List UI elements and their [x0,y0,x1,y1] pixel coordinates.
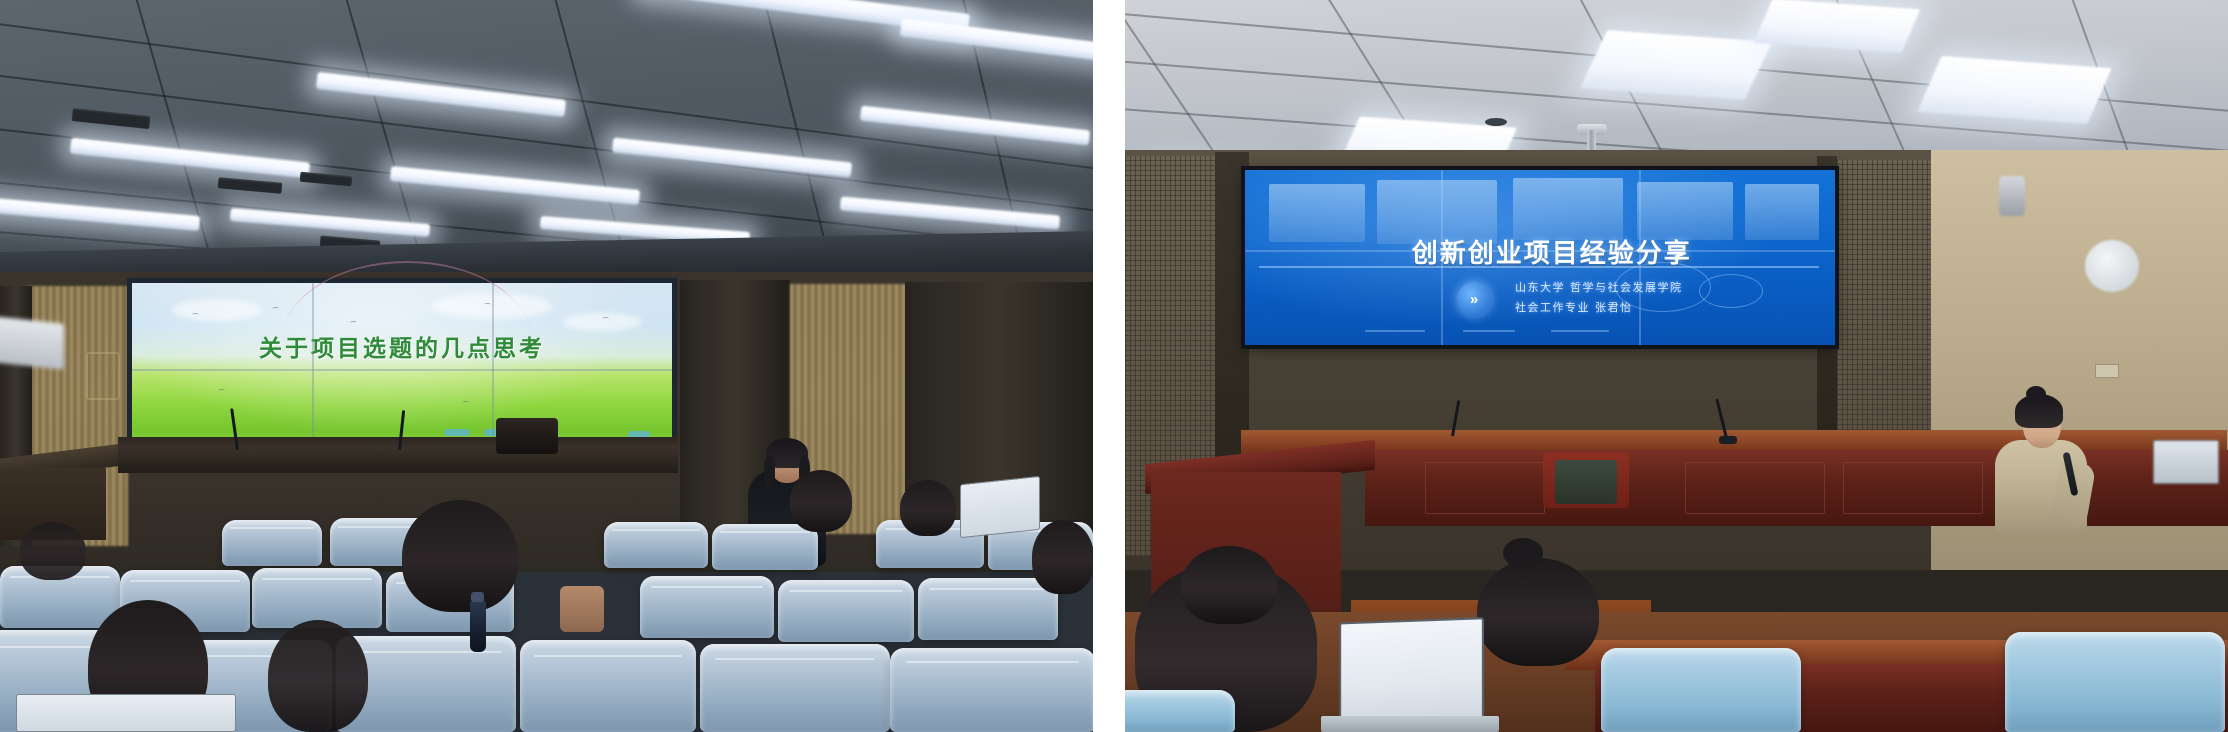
microphone-base [1719,436,1737,444]
cloud-shape [562,313,642,331]
stage-chair [496,418,558,454]
slide-thumbnail [1269,184,1365,242]
bird-shape [350,321,357,324]
screen-tile-seam [1441,170,1443,345]
screen-tile-seam [1639,170,1641,345]
cloud-shape [172,299,262,321]
slide-thumbnail [1637,182,1733,240]
bird-shape [192,313,199,316]
audience-seat [520,640,696,732]
bottle-cap [471,592,484,602]
audience-hair-bun [1503,538,1543,568]
audience-seat [700,644,890,732]
bird-shape [462,401,469,404]
presenter-laptop [2153,440,2219,484]
ceiling-vent [1485,118,1507,126]
audience-laptop [960,476,1040,538]
table-panel [1685,462,1825,514]
audience-seat [1125,690,1235,732]
wall-plaque [86,352,120,400]
screen-tile-seam [312,283,314,448]
slide-accent [1365,330,1425,332]
audience-head-top [1181,546,1277,624]
audience-seat [778,580,914,642]
audience-laptop [16,694,236,732]
led-video-wall: » 创新创业项目经验分享 山东大学 哲学与社会发展学院 社会工作专业 张君怡 [1245,170,1835,345]
decorative-ring [1699,274,1763,308]
bird-shape [272,307,279,310]
audience-head [1032,520,1093,594]
water-bottle [470,600,486,652]
audience-seat [222,520,322,566]
audience-laptop-screen [1339,617,1484,727]
ceiling-light-panel [1917,56,2111,124]
ceiling-light-panel [1580,30,1772,100]
audience-seat [918,578,1058,640]
audience-seat [252,568,382,628]
screen-tile-seam [132,369,672,371]
slide-thumbnail [1745,184,1819,240]
presenter-hair-side [764,456,775,488]
audience-seat [640,576,774,638]
audience-seat [2005,632,2225,732]
bird-shape [602,317,609,320]
conference-room-presentation-photo: » 创新创业项目经验分享 山东大学 哲学与社会发展学院 社会工作专业 张君怡 [1125,0,2228,732]
photo-collage: 关于项目选题的几点思考 [0,0,2228,732]
wall-switch [2095,364,2119,378]
slide-title: 关于项目选题的几点思考 [259,329,545,363]
slide-divider [1259,266,1819,268]
bird-shape [484,303,491,306]
table-panel [1425,462,1545,514]
wall-clock [2085,240,2139,292]
audience-laptop-base [1321,716,1499,732]
audience-head [790,470,852,532]
audience-head [402,500,518,612]
bird-shape [218,389,225,392]
auditorium-lecture-photo: 关于项目选题的几点思考 [0,0,1093,732]
table-panel [1843,462,1983,514]
slide-title: 创新创业项目经验分享 [1412,233,1692,270]
wall-speaker [1999,176,2025,216]
slide-indicator [444,429,470,436]
presenter-chair-cushion [1555,460,1617,504]
audience-seat [890,648,1093,732]
audience-head [20,522,86,580]
screen-tile-seam [1245,250,1835,252]
audience-seat [1601,648,1801,732]
audience-head [268,620,368,732]
presenter-hair-bun [2026,386,2046,402]
audience-neck [560,586,604,632]
audience-seat [712,524,818,570]
audience-head [900,480,956,536]
audience-seat [604,522,708,568]
air-conditioner-vent [0,316,64,369]
arrow-badge-icon: » [1457,282,1491,316]
slide-accent [1463,330,1515,332]
slide-subtitle-line1: 山东大学 哲学与社会发展学院 [1515,280,1683,295]
screen-tile-seam [492,283,494,448]
slide-thumbnail [1513,178,1623,240]
audience-head [1477,558,1599,666]
photo-gutter [1093,0,1125,732]
slide-subtitle-line2: 社会工作专业 张君怡 [1515,300,1633,315]
slide-accent [1551,330,1609,332]
